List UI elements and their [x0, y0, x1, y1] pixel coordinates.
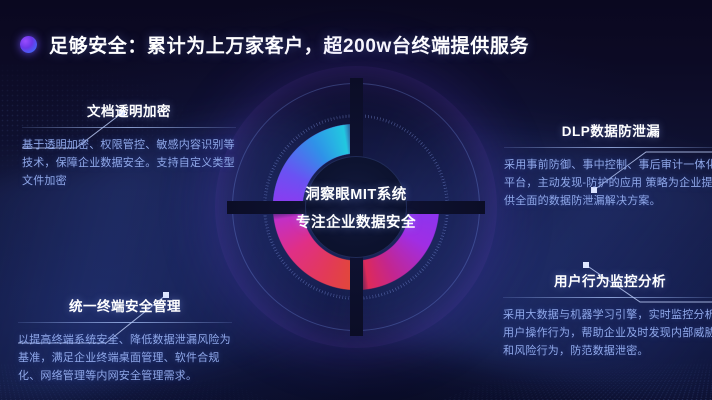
feature-body-terminal-security: 以提高终端系统安全、降低数据泄漏风险为基准，满足企业终端桌面管理、软件合规化、网… [18, 332, 232, 385]
feature-title-doc-encryption: 文档透明加密 [22, 100, 236, 120]
slide-canvas: 足够安全：累计为上万家客户，超200w台终端提供服务 洞察眼MIT系统 [0, 0, 712, 400]
feature-block-doc-encryption[interactable]: 文档透明加密 基于透明加密、权限管控、敏感内容识别等技术，保障企业数据安全。支持… [22, 100, 236, 190]
feature-title-dlp: DLP数据防泄漏 [504, 120, 712, 140]
donut-chart: 洞察眼MIT系统 专注企业数据安全 [233, 84, 479, 330]
background-dot-texture-right [422, 359, 712, 400]
gradient-dot-icon [20, 36, 37, 53]
core-tagline: 专注企业数据安全 [296, 211, 416, 232]
connector-dot-behavior [583, 262, 589, 268]
feature-body-behavior-analysis: 采用大数据与机器学习引擎，实时监控分析用户操作行为，帮助企业及时发现内部威胁和风… [503, 307, 712, 360]
feature-underline-dlp [504, 147, 712, 148]
core-product-name: 洞察眼MIT系统 [305, 183, 406, 204]
feature-body-dlp: 采用事前防御、事中控制、事后审计一体化平台，主动发现-防护的应用 策略为企业提供… [504, 157, 712, 210]
feature-title-terminal-security: 统一终端安全管理 [18, 295, 232, 315]
ring-center-label: 洞察眼MIT系统 专注企业数据安全 [305, 156, 407, 258]
feature-body-doc-encryption: 基于透明加密、权限管控、敏感内容识别等技术，保障企业数据安全。支持自定义类型文件… [22, 137, 236, 190]
feature-block-terminal-security[interactable]: 统一终端安全管理 以提高终端系统安全、降低数据泄漏风险为基准，满足企业终端桌面管… [18, 295, 232, 385]
feature-title-behavior-analysis: 用户行为监控分析 [503, 270, 712, 290]
slide-header: 足够安全：累计为上万家客户，超200w台终端提供服务 [0, 28, 529, 60]
feature-underline-terminal [18, 322, 232, 323]
feature-underline-behavior [503, 297, 712, 298]
feature-underline-doc [22, 127, 236, 128]
feature-block-dlp[interactable]: DLP数据防泄漏 采用事前防御、事中控制、事后审计一体化平台，主动发现-防护的应… [504, 120, 712, 210]
feature-block-behavior-analysis[interactable]: 用户行为监控分析 采用大数据与机器学习引擎，实时监控分析用户操作行为，帮助企业及… [503, 270, 712, 360]
page-title: 足够安全：累计为上万家客户，超200w台终端提供服务 [49, 31, 529, 58]
